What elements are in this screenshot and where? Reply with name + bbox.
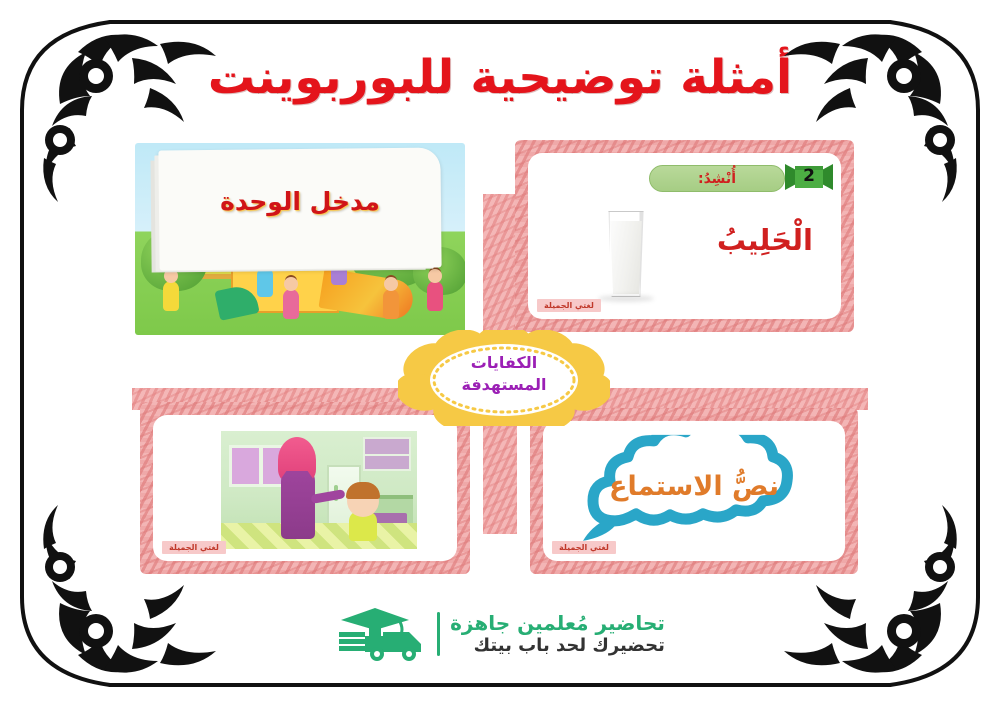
chant-label-text: أُنْشِدُ: [698, 171, 736, 187]
page-title: أمثلة توضيحية للبوربوينت [0, 52, 1000, 104]
child-figure [427, 281, 443, 311]
milk-liquid [608, 221, 644, 294]
child-figure [383, 289, 399, 319]
slide-card-unit-intro[interactable]: مدخل الوحدة [135, 143, 465, 335]
slide-footer-tag: لغتي الجميلة [162, 541, 226, 554]
slide-footer-tag: لغتي الجميلة [537, 299, 601, 312]
delivery-truck-icon [335, 606, 427, 662]
slide-card-listening-text[interactable]: نصُّ الاستماع لغتي الجميلة [530, 408, 858, 574]
glass-shadow [598, 295, 654, 302]
playground-illustration: مدخل الوحدة [135, 143, 465, 335]
boy-figure-hair [346, 482, 380, 499]
slide-card-milk-chant-inner: أُنْشِدُ: 2 الْحَلِيبُ [528, 153, 841, 319]
milk-glass-illustration [606, 211, 646, 297]
brand-tagline-secondary: تحضيرك لحد باب بيتك [450, 635, 665, 657]
page-number-ribbon: 2 [785, 162, 833, 192]
child-figure [257, 267, 273, 297]
brand-tagline-primary: تحاضير مُعلمين جاهزة [450, 611, 665, 635]
cloud-shape: نصُّ الاستماع [569, 435, 819, 543]
child-figure [283, 289, 299, 319]
child-figure [163, 281, 179, 311]
slide-card-milk-chant[interactable]: أُنْشِدُ: 2 الْحَلِيبُ [515, 140, 854, 332]
target-competencies-badge[interactable]: الكفايات المستهدفة [398, 330, 610, 426]
slide-card-listening-text-inner: نصُّ الاستماع لغتي الجميلة [543, 421, 845, 561]
logo-divider [437, 612, 440, 656]
slide-card-kitchen-scene[interactable]: لغتي الجميلة [140, 402, 470, 574]
milk-word-text: الْحَلِيبُ [717, 223, 813, 257]
competencies-line-2: المستهدفة [398, 374, 610, 396]
page-title-text: أمثلة توضيحية للبوربوينت [0, 52, 1000, 104]
page-number-text: 2 [785, 166, 833, 186]
unit-intro-heading: مدخل الوحدة [135, 187, 465, 216]
mother-figure-body [281, 465, 315, 539]
competencies-line-1: الكفايات [398, 352, 610, 374]
kitchen-illustration [221, 431, 417, 549]
slide-footer-tag: لغتي الجميلة [552, 541, 616, 554]
brand-logo-text: تحاضير مُعلمين جاهزة تحضيرك لحد باب بيتك [450, 611, 665, 657]
slide-card-kitchen-scene-inner: لغتي الجميلة [153, 415, 457, 561]
slide-card-unit-intro-inner: مدخل الوحدة [135, 143, 465, 335]
listening-text-label: نصُّ الاستماع [569, 471, 819, 502]
brand-logo[interactable]: تحاضير مُعلمين جاهزة تحضيرك لحد باب بيتك [0, 606, 1000, 662]
floor-tiles [221, 523, 417, 549]
chant-label-pill: أُنْشِدُ: [649, 165, 785, 192]
poster-page: أمثلة توضيحية للبوربوينت [0, 0, 1000, 707]
cabinet-shape [363, 437, 411, 471]
target-competencies-text: الكفايات المستهدفة [398, 352, 610, 396]
